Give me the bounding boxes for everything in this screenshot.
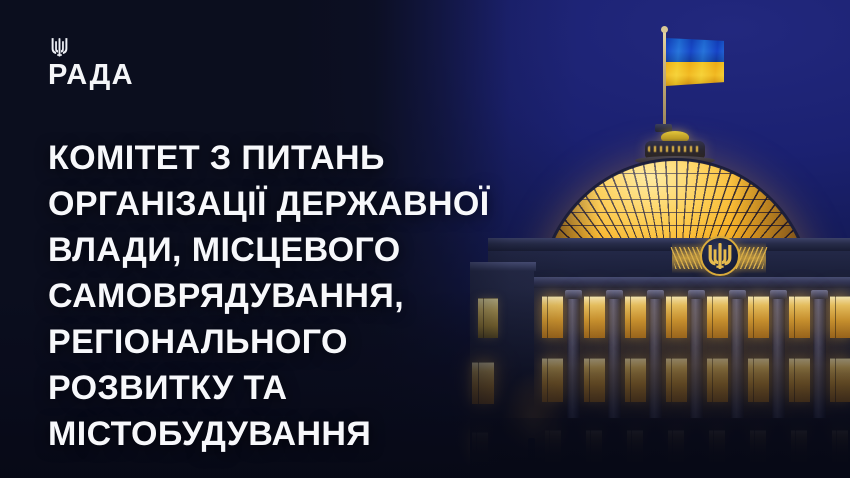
title-line: ОРГАНІЗАЦІЇ ДЕРЖАВНОЇ <box>48 181 648 227</box>
ukraine-trident-icon <box>50 36 69 58</box>
title-line: МІСТОБУДУВАННЯ <box>48 411 648 457</box>
title-line: САМОВРЯДУВАННЯ, <box>48 273 648 319</box>
poster-banner: РАДА КОМІТЕТ З ПИТАНЬ ОРГАНІЗАЦІЇ ДЕРЖАВ… <box>0 0 850 478</box>
title-line: КОМІТЕТ З ПИТАНЬ <box>48 135 648 181</box>
page-title: КОМІТЕТ З ПИТАНЬ ОРГАНІЗАЦІЇ ДЕРЖАВНОЇ В… <box>48 135 648 457</box>
brand-name: РАДА <box>48 61 134 90</box>
title-line: РЕГІОНАЛЬНОГО <box>48 319 648 365</box>
title-line: ВЛАДИ, МІСЦЕВОГО <box>48 227 648 273</box>
title-line: РОЗВИТКУ ТА <box>48 365 648 411</box>
brand-logo[interactable]: РАДА <box>48 36 134 90</box>
